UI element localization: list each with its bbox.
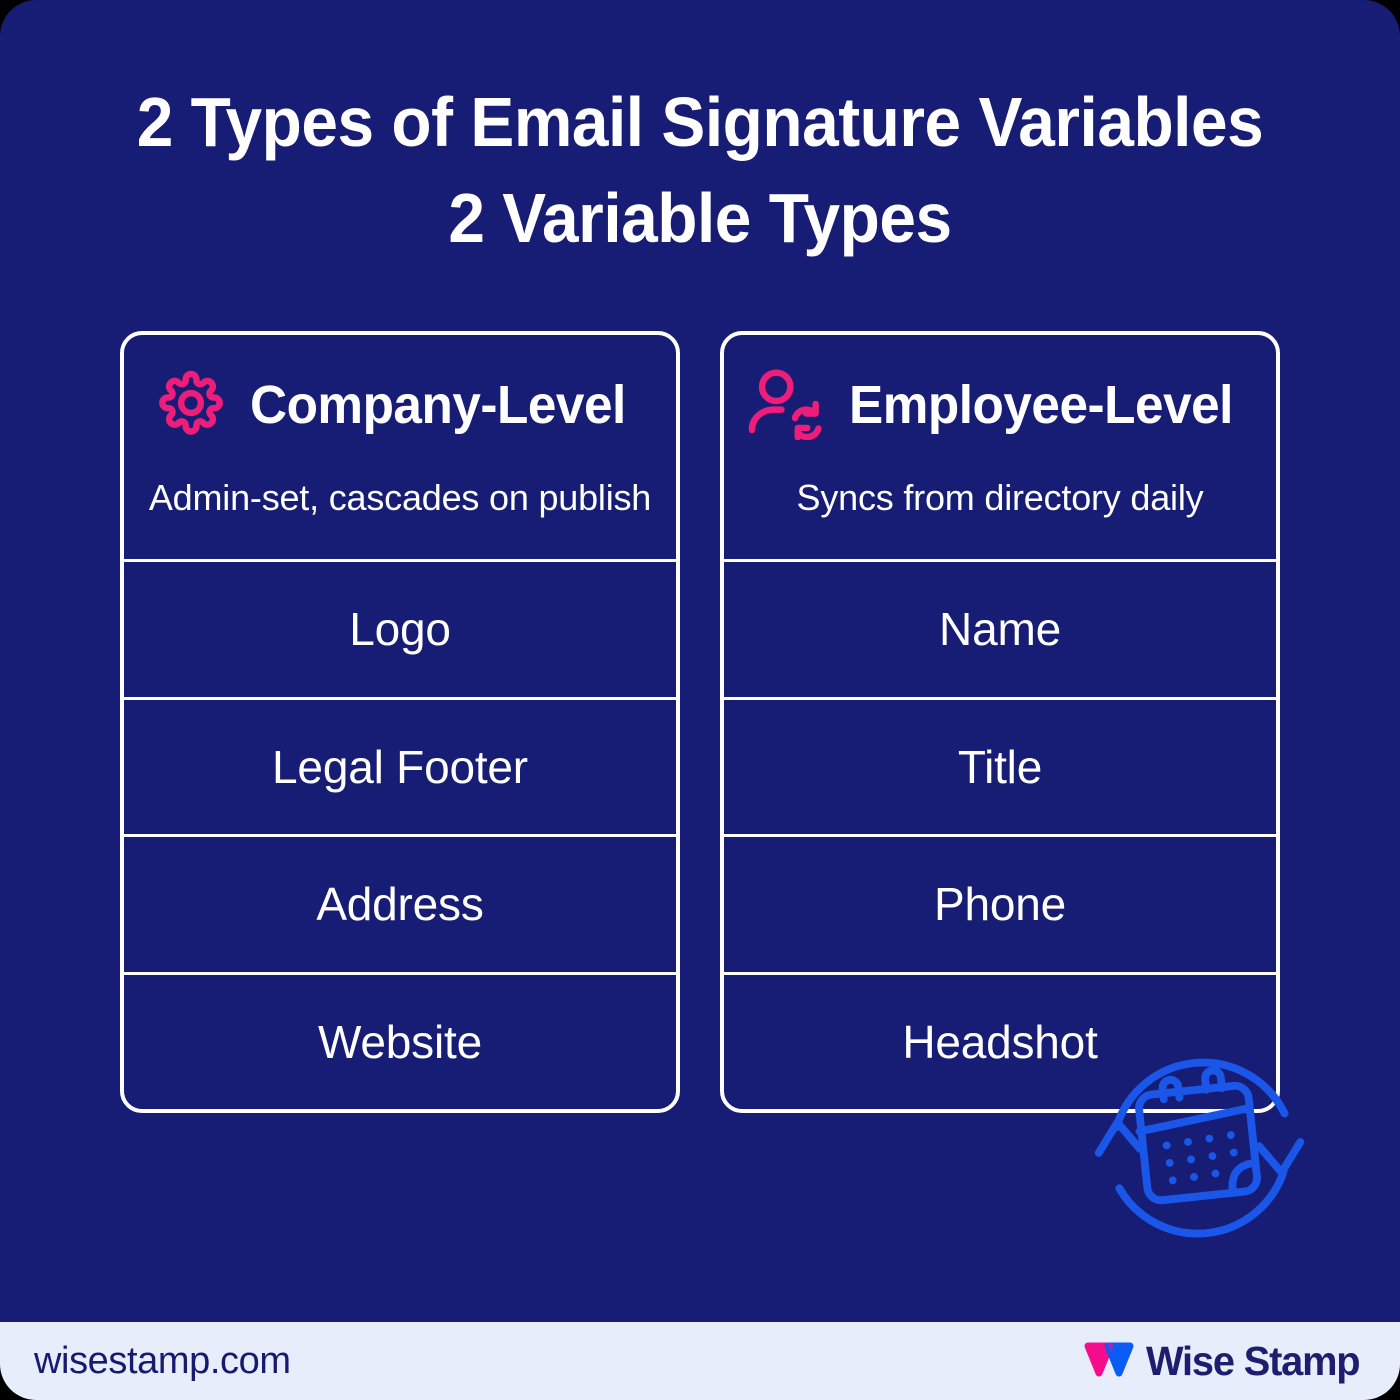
table-row: Legal Footer — [124, 700, 676, 838]
table-row: Phone — [724, 837, 1276, 975]
table-row: Address — [124, 837, 676, 975]
row-label: Name — [939, 602, 1061, 656]
card-header-company-level: Company-Level Admin-set, cascades on pub… — [124, 335, 676, 562]
card-row-list-company: Logo Legal Footer Address Website — [124, 562, 676, 1109]
row-label: Address — [316, 877, 483, 931]
row-label: Logo — [349, 602, 451, 656]
row-label: Website — [318, 1015, 482, 1069]
row-label: Headshot — [902, 1015, 1097, 1069]
footer-url[interactable]: wisestamp.com — [34, 1340, 291, 1383]
wisestamp-w-logo-icon — [1084, 1339, 1134, 1384]
card-header-row: Company-Level — [124, 335, 676, 475]
card-header-row: Employee-Level — [724, 335, 1276, 475]
title-line-2: 2 Variable Types — [42, 170, 1358, 266]
card-heading: Company-Level — [250, 374, 626, 436]
brand-name: Wise Stamp — [1146, 1338, 1359, 1385]
footer-bar: wisestamp.com Wise Stamp — [0, 1322, 1400, 1400]
table-row: Title — [724, 700, 1276, 838]
person-sync-icon — [747, 366, 827, 445]
card-subtitle: Admin-set, cascades on publish — [149, 477, 651, 519]
infographic-canvas: 2 Types of Email Signature Variables 2 V… — [0, 0, 1400, 1400]
card-header-employee-level: Employee-Level Syncs from directory dail… — [724, 335, 1276, 562]
card-employee-level: Employee-Level Syncs from directory dail… — [720, 331, 1280, 1113]
card-heading: Employee-Level — [849, 374, 1233, 436]
row-label: Phone — [934, 877, 1066, 931]
calendar-sync-icon — [1082, 1030, 1318, 1266]
card-company-level: Company-Level Admin-set, cascades on pub… — [120, 331, 680, 1113]
card-row-list-employee: Name Title Phone Headshot — [724, 562, 1276, 1109]
title-line-1: 2 Types of Email Signature Variables — [42, 74, 1358, 170]
brand-lockup: Wise Stamp — [1084, 1338, 1366, 1385]
variable-type-cards: Company-Level Admin-set, cascades on pub… — [120, 331, 1280, 1113]
card-subtitle: Syncs from directory daily — [797, 477, 1204, 519]
table-row: Logo — [124, 562, 676, 700]
gear-icon — [154, 366, 228, 445]
row-label: Legal Footer — [272, 740, 528, 794]
table-row: Name — [724, 562, 1276, 700]
page-title: 2 Types of Email Signature Variables 2 V… — [0, 74, 1400, 266]
table-row: Website — [124, 975, 676, 1110]
row-label: Title — [958, 740, 1042, 794]
